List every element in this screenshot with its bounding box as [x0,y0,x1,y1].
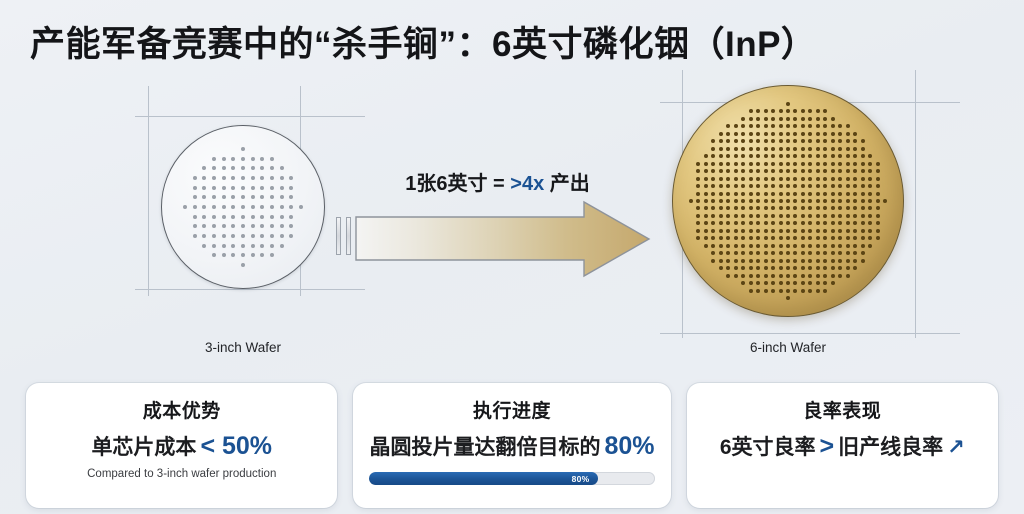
die-cell [260,205,264,209]
die-cell [734,236,738,240]
die-cell [853,169,857,173]
die-cell [861,221,865,225]
die-cell [779,162,783,166]
die-cell [793,236,797,240]
die-cell [719,251,723,255]
die-cell [749,102,753,106]
die-cell [749,221,753,225]
die-cell [823,117,827,121]
die-cell [816,132,820,136]
die-cell [861,281,865,285]
die-cell [808,259,812,263]
die-cell [846,229,850,233]
die-cell [823,147,827,151]
die-cell [846,251,850,255]
die-cell [749,266,753,270]
die-cell [241,215,245,219]
die-cell [816,251,820,255]
die-cell [299,234,303,238]
die-cell [726,102,730,106]
die-cell [704,229,708,233]
die-cell [711,169,715,173]
die-cell [726,281,730,285]
die-cell [779,154,783,158]
die-cell [876,229,880,233]
die-cell [846,266,850,270]
die-cell [704,206,708,210]
die-cell [816,117,820,121]
die-cell [801,266,805,270]
die-cell [771,124,775,128]
card-execution-progress[interactable]: 执行进度 晶圆投片量达翻倍目标的 80% 80% [353,383,670,508]
die-cell [831,221,835,225]
die-cell [861,274,865,278]
die-cell [786,289,790,293]
die-cell [289,224,293,228]
die-cell [868,132,872,136]
die-cell [299,186,303,190]
die-cell [868,192,872,196]
die-cell [764,139,768,143]
die-cell [719,229,723,233]
die-cell [793,124,797,128]
die-cell [861,259,865,263]
die-cell [202,244,206,248]
die-cell [883,184,887,188]
die-cell [726,169,730,173]
die-cell [719,177,723,181]
die-cell [853,154,857,158]
die-cell [711,132,715,136]
die-cell [816,236,820,240]
die-cell [193,224,197,228]
card-execution-progress-main: 晶圆投片量达翻倍目标的 80% [369,431,654,461]
die-cell [193,157,197,161]
die-cell [711,117,715,121]
die-cell [711,199,715,203]
die-cell [786,169,790,173]
die-cell [793,139,797,143]
die-cell [868,214,872,218]
die-cell [726,289,730,293]
die-cell [734,296,738,300]
die-cell [823,132,827,136]
throughput-arrow [336,200,654,278]
die-cell [696,289,700,293]
die-cell [212,215,216,219]
die-cell [212,234,216,238]
die-cell [808,206,812,210]
die-cell [831,296,835,300]
die-cell [838,109,842,113]
die-cell [749,244,753,248]
die-cell [808,132,812,136]
die-cell [868,117,872,121]
die-cell [202,253,206,257]
die-cell [846,259,850,263]
die-cell [808,229,812,233]
die-cell [251,166,255,170]
die-cell [741,266,745,270]
die-cell [756,296,760,300]
die-cell [704,221,708,225]
die-cell [756,221,760,225]
die-cell [231,186,235,190]
die-cell [212,195,216,199]
die-cell [883,154,887,158]
die-cell [741,236,745,240]
die-cell [704,109,708,113]
die-cell [764,281,768,285]
die-cell [719,274,723,278]
die-cell [808,244,812,248]
die-cell [808,177,812,181]
die-cell [868,154,872,158]
die-cell [801,132,805,136]
die-cell [808,139,812,143]
die-cell [260,166,264,170]
die-cell [868,162,872,166]
die-cell [719,117,723,121]
die-cell [861,132,865,136]
card-cost-advantage[interactable]: 成本优势 单芯片成本 < 50% Compared to 3-inch wafe… [26,383,337,508]
die-cell [289,195,293,199]
die-cell [793,169,797,173]
die-cell [779,132,783,136]
die-cell [779,102,783,106]
die-cell [808,109,812,113]
die-cell [876,214,880,218]
die-cell [861,169,865,173]
die-cell [816,274,820,278]
die-cell [222,253,226,257]
die-cell [689,199,693,203]
die-cell [696,169,700,173]
die-cell [756,259,760,263]
die-cell [299,147,303,151]
die-cell [280,195,284,199]
die-cell [241,263,245,267]
die-cell [251,186,255,190]
die-cell [749,117,753,121]
die-cell [260,176,264,180]
die-cell [183,176,187,180]
die-cell [756,206,760,210]
die-cell [719,206,723,210]
die-cell [231,166,235,170]
die-cell [816,206,820,210]
die-cell [883,169,887,173]
die-cell [771,259,775,263]
die-cell [883,199,887,203]
die-cell [756,236,760,240]
die-cell [771,169,775,173]
die-cell [764,266,768,270]
die-cell [846,296,850,300]
die-cell [793,266,797,270]
die-cell [853,236,857,240]
die-cell [270,195,274,199]
die-cell [868,199,872,203]
die-cell [756,192,760,196]
die-cell [289,186,293,190]
die-cell [771,102,775,106]
die-cell [222,234,226,238]
die-cell [241,253,245,257]
die-cell [222,224,226,228]
die-cell [749,162,753,166]
die-cell [779,296,783,300]
die-cell [853,259,857,263]
die-cell [786,109,790,113]
die-cell [883,244,887,248]
die-cell [846,147,850,151]
die-cell [823,281,827,285]
die-cell [868,206,872,210]
die-cell [786,124,790,128]
die-cell [816,169,820,173]
die-cell [771,206,775,210]
die-cell [260,253,264,257]
die-cell [241,157,245,161]
die-cell [719,162,723,166]
die-cell [183,166,187,170]
die-cell [786,154,790,158]
die-cell [786,147,790,151]
die-cell [808,147,812,151]
die-cell [734,147,738,151]
die-cell [711,184,715,188]
die-cell [741,169,745,173]
die-cell [808,124,812,128]
die-cell [726,274,730,278]
die-cell [719,236,723,240]
die-cell [260,244,264,248]
die-cell [719,169,723,173]
die-cell [868,251,872,255]
die-cell [734,132,738,136]
die-cell [270,224,274,228]
die-cell [764,229,768,233]
die-cell [876,281,880,285]
die-cell [838,289,842,293]
die-cell [202,176,206,180]
die-cell [793,206,797,210]
die-cell [689,266,693,270]
die-cell [823,154,827,158]
die-cell [883,214,887,218]
die-cell [801,206,805,210]
die-cell [808,192,812,196]
die-cell [816,266,820,270]
die-cell [734,184,738,188]
die-cell [749,177,753,181]
die-cell [289,263,293,267]
die-cell [756,251,760,255]
die-cell [801,229,805,233]
die-cell [756,132,760,136]
die-cell [876,266,880,270]
die-cell [704,124,708,128]
die-cell [696,154,700,158]
die-cell [231,244,235,248]
die-cell [719,296,723,300]
die-cell [749,147,753,151]
die-cell [853,199,857,203]
die-cell [734,221,738,225]
die-cell [202,215,206,219]
die-cell [689,259,693,263]
die-cell [868,229,872,233]
die-cell [280,244,284,248]
die-cell [831,154,835,158]
die-cell [222,157,226,161]
reg-line-left-vertical-a [148,86,149,296]
die-cell [222,244,226,248]
die-cell [202,205,206,209]
die-cell [816,199,820,203]
die-cell [779,274,783,278]
card-yield-performance-main: 6英寸良率 > 旧产线良率 ↗ [720,431,965,461]
die-cell [861,139,865,143]
die-cell [696,124,700,128]
die-cell [704,154,708,158]
die-cell [779,169,783,173]
die-cell [883,109,887,113]
die-cell [212,157,216,161]
die-cell [779,177,783,181]
die-cell [771,274,775,278]
die-cell [193,215,197,219]
die-cell [696,109,700,113]
die-cell [734,289,738,293]
die-cell [734,206,738,210]
die-cell [764,132,768,136]
die-cell [861,147,865,151]
die-cell [823,251,827,255]
die-cell [241,195,245,199]
die-cell [704,162,708,166]
card-cost-advantage-highlight: < 50% [200,432,272,461]
die-cell [222,166,226,170]
die-cell [711,221,715,225]
die-cell [270,205,274,209]
die-cell [741,244,745,248]
die-cell [861,266,865,270]
die-cell [696,199,700,203]
die-cell [193,244,197,248]
die-cell [779,124,783,128]
reg-line-right-horizontal-b [660,333,960,334]
die-cell [696,296,700,300]
die-cell [719,139,723,143]
die-cell [838,162,842,166]
die-cell [689,132,693,136]
progress-bar-label: 80% [572,474,590,484]
die-cell [704,274,708,278]
die-cell [704,259,708,263]
card-yield-performance[interactable]: 良率表现 6英寸良率 > 旧产线良率 ↗ [687,383,998,508]
die-cell [764,184,768,188]
die-cell [793,162,797,166]
die-cell [719,214,723,218]
die-cell [801,199,805,203]
die-cell [883,251,887,255]
die-cell [876,162,880,166]
die-cell [193,186,197,190]
die-cell [749,199,753,203]
die-cell [704,184,708,188]
die-cell [808,162,812,166]
die-cell [853,229,857,233]
die-cell [801,192,805,196]
die-cell [838,199,842,203]
die-cell [786,199,790,203]
die-cell [689,214,693,218]
die-cell [734,244,738,248]
die-cell [222,186,226,190]
die-cell [231,224,235,228]
die-cell [734,162,738,166]
die-cell [883,192,887,196]
die-cell [786,192,790,196]
die-cell [883,296,887,300]
die-cell [823,236,827,240]
die-cell [831,199,835,203]
die-cell [771,184,775,188]
die-cell [838,274,842,278]
die-cell [861,244,865,248]
die-cell [689,221,693,225]
die-cell [838,117,842,121]
die-cell [808,251,812,255]
die-cell [222,263,226,267]
die-cell [786,281,790,285]
die-cell [749,214,753,218]
die-cell [734,154,738,158]
die-cell [749,229,753,233]
die-cell [689,139,693,143]
die-cell [711,244,715,248]
die-cell [831,236,835,240]
die-cell [861,206,865,210]
die-cell [861,154,865,158]
die-cell [801,139,805,143]
card-execution-progress-highlight: 80% [604,432,654,461]
die-cell [883,124,887,128]
die-cell [270,234,274,238]
die-cell [280,147,284,151]
die-cell [779,244,783,248]
die-cell [260,263,264,267]
die-cell [808,214,812,218]
die-cell [876,177,880,181]
arrow-caption-suffix: 产出 [544,173,590,195]
die-cell [883,102,887,106]
die-cell [853,289,857,293]
progress-bar[interactable]: 80% [369,472,654,485]
die-cell [861,251,865,255]
wafer-6-inch [672,85,904,317]
die-cell [764,206,768,210]
die-cell [183,215,187,219]
die-cell [831,147,835,151]
card-cost-advantage-title: 成本优势 [143,396,221,423]
die-cell [251,157,255,161]
die-cell [876,206,880,210]
die-cell [831,162,835,166]
die-cell [793,199,797,203]
